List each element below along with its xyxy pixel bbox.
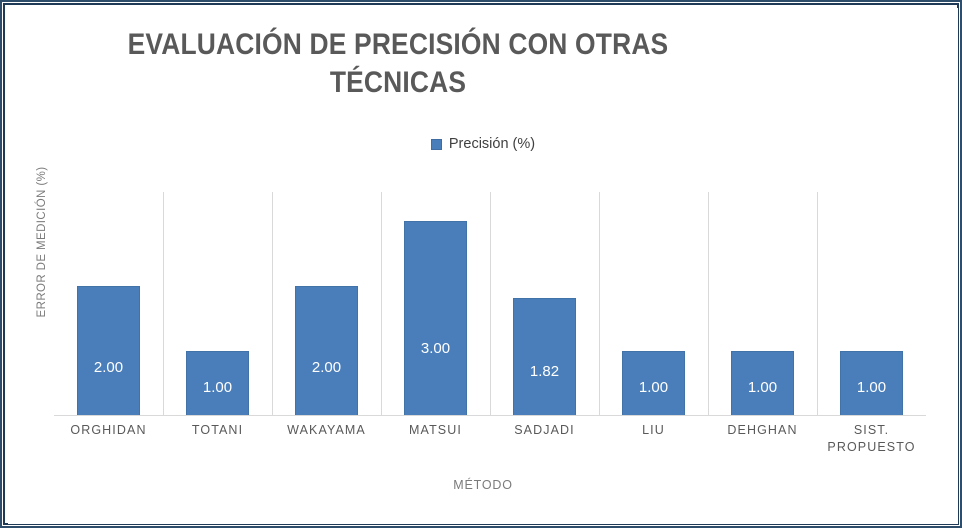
x-axis-line bbox=[54, 415, 926, 416]
x-axis-tick-labels: ORGHIDANTOTANIWAKAYAMAMATSUISADJADILIUDE… bbox=[54, 422, 926, 470]
bar[interactable]: 2.00 bbox=[295, 286, 359, 416]
y-axis-title: ERROR DE MEDICIÓN (%) bbox=[36, 132, 48, 352]
x-tick-label: DEHGHAN bbox=[708, 422, 817, 439]
bar[interactable]: 1.00 bbox=[840, 351, 904, 416]
x-tick-label: MATSUI bbox=[381, 422, 490, 439]
bar[interactable]: 2.00 bbox=[77, 286, 141, 416]
bar-value-label: 1.82 bbox=[514, 363, 576, 380]
x-tick-label: WAKAYAMA bbox=[272, 422, 381, 439]
bar[interactable]: 1.00 bbox=[622, 351, 686, 416]
x-tick-label: ORGHIDAN bbox=[54, 422, 163, 439]
bar[interactable]: 1.82 bbox=[513, 298, 577, 416]
plot-area: 2.001.002.003.001.821.001.001.00 bbox=[54, 192, 926, 416]
bar-value-label: 1.00 bbox=[732, 379, 794, 396]
x-axis-title: MÉTODO bbox=[8, 478, 958, 492]
x-tick-label: LIU bbox=[599, 422, 708, 439]
gridline-vertical bbox=[708, 192, 709, 416]
x-tick-label: TOTANI bbox=[163, 422, 272, 439]
bar[interactable]: 1.00 bbox=[731, 351, 795, 416]
gridline-vertical bbox=[272, 192, 273, 416]
bar[interactable]: 1.00 bbox=[186, 351, 250, 416]
gridline-vertical bbox=[599, 192, 600, 416]
legend-item-precision[interactable]: Precisión (%) bbox=[431, 136, 535, 152]
gridline-vertical bbox=[163, 192, 164, 416]
bar[interactable]: 3.00 bbox=[404, 221, 468, 416]
x-tick-label: SADJADI bbox=[490, 422, 599, 439]
x-tick-label: SIST. PROPUESTO bbox=[817, 422, 926, 456]
bar-value-label: 1.00 bbox=[841, 379, 903, 396]
bar-value-label: 2.00 bbox=[78, 359, 140, 376]
chart-frame: EVALUACIÓN DE PRECISIÓN CON OTRAS TÉCNIC… bbox=[0, 0, 962, 528]
bar-value-label: 3.00 bbox=[405, 340, 467, 357]
gridline-vertical bbox=[490, 192, 491, 416]
chart-legend: Precisión (%) bbox=[8, 136, 958, 152]
bar-value-label: 1.00 bbox=[623, 379, 685, 396]
legend-item-label: Precisión (%) bbox=[449, 136, 535, 152]
legend-swatch-icon bbox=[431, 139, 442, 150]
bar-value-label: 1.00 bbox=[187, 379, 249, 396]
chart-title: EVALUACIÓN DE PRECISIÓN CON OTRAS TÉCNIC… bbox=[108, 26, 689, 103]
gridline-vertical bbox=[817, 192, 818, 416]
chart-plot-container: EVALUACIÓN DE PRECISIÓN CON OTRAS TÉCNIC… bbox=[8, 8, 958, 524]
gridline-vertical bbox=[381, 192, 382, 416]
bar-value-label: 2.00 bbox=[296, 359, 358, 376]
